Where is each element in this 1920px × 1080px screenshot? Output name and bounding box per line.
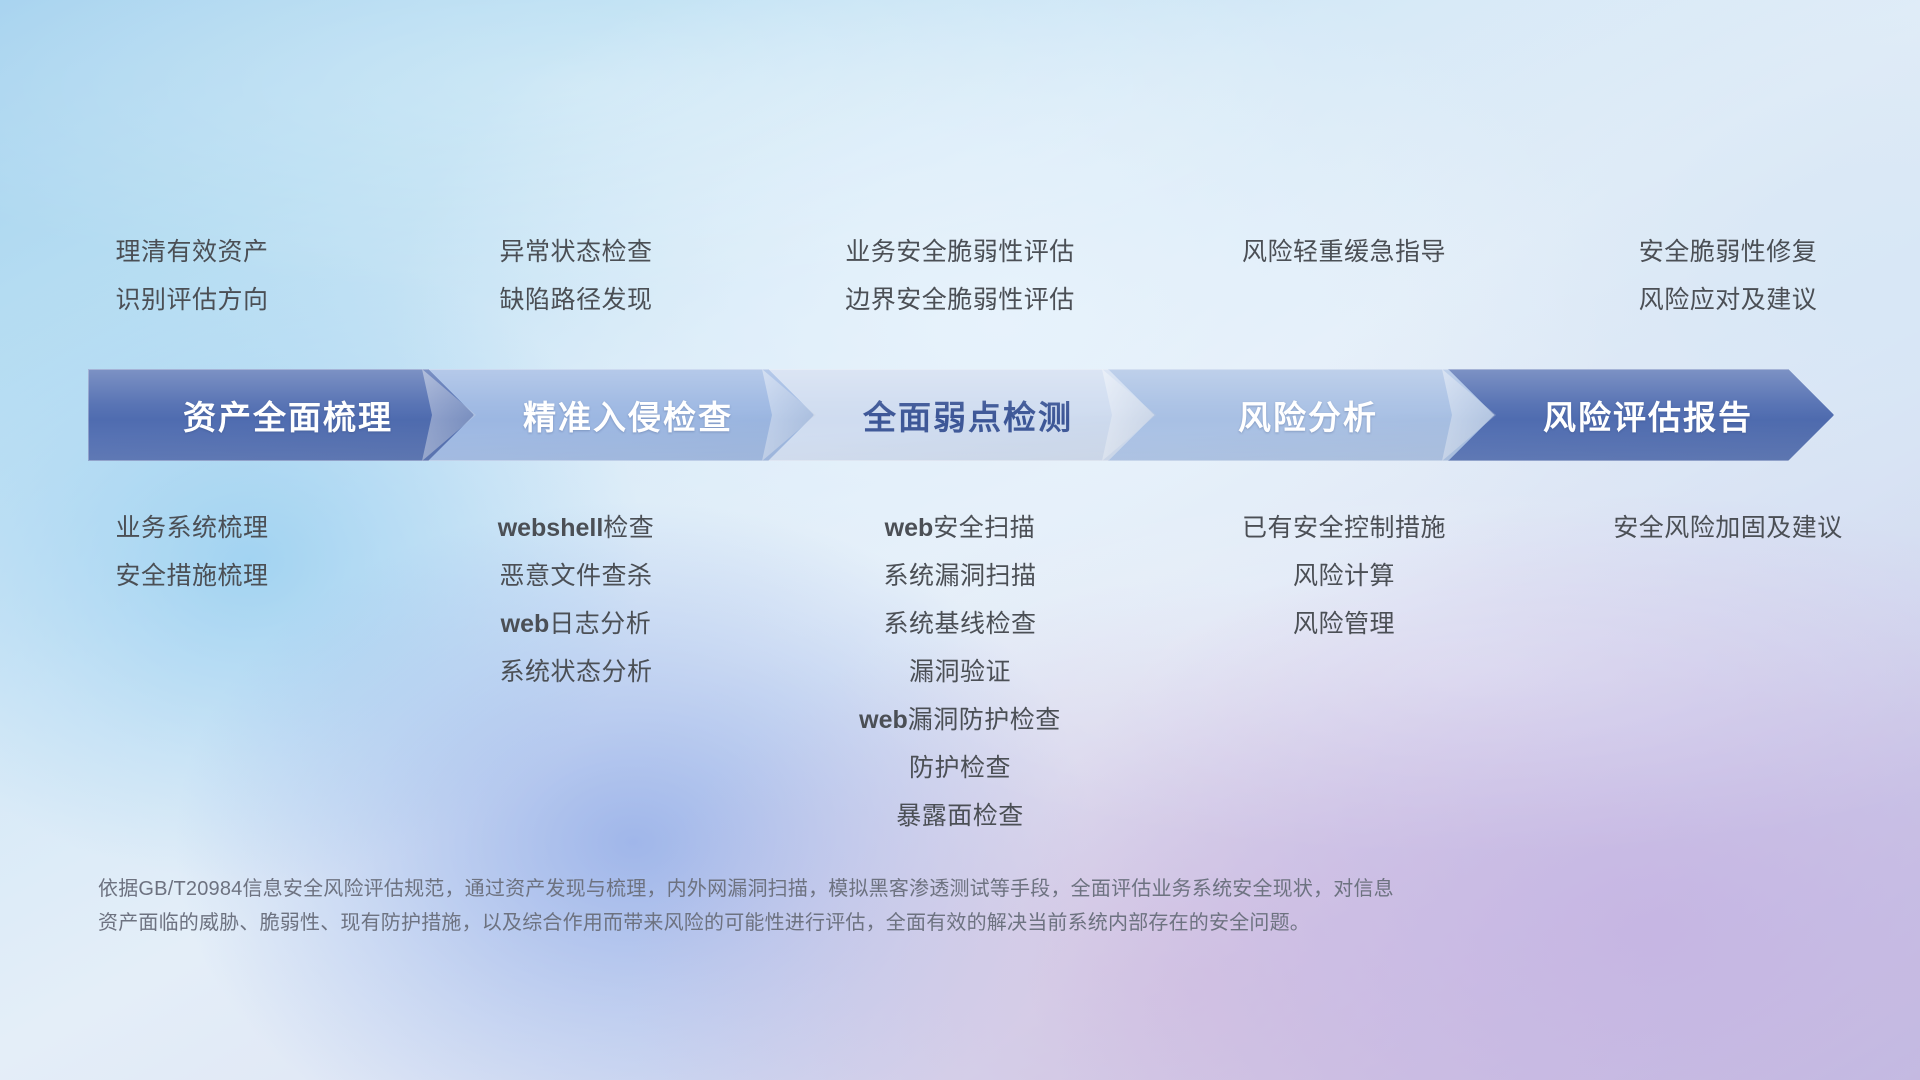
top-note: 风险轻重缓急指导 xyxy=(1162,228,1526,276)
top-note: 理清有效资产 xyxy=(10,228,374,276)
bottom-item-latin: webshell xyxy=(498,514,604,542)
bottom-items-col-2: webshell检查恶意文件查杀web日志分析系统状态分析 xyxy=(384,504,768,696)
footer-description: 依据GB/T20984信息安全风险评估规范，通过资产发现与梳理，内外网漏洞扫描，… xyxy=(98,872,1618,940)
top-note: 异常状态检查 xyxy=(394,228,758,276)
bottom-item: 业务系统梳理 xyxy=(10,504,374,552)
chevron-label: 资产全面梳理 xyxy=(169,391,393,439)
bottom-item-latin: web xyxy=(885,514,934,542)
footer-line-2: 资产面临的威胁、脆弱性、现有防护措施，以及综合作用而带来风险的可能性进行评估，全… xyxy=(98,906,1618,940)
chevron-label: 精准入侵检查 xyxy=(509,391,733,439)
bottom-items-col-4: 已有安全控制措施风险计算风险管理 xyxy=(1152,504,1536,648)
chevron-label: 风险分析 xyxy=(1224,391,1378,439)
chevron-stage-intrusion-check[interactable]: 精准入侵检查 xyxy=(428,369,814,461)
top-note: 边界安全脆弱性评估 xyxy=(778,276,1142,324)
bottom-items-row: 业务系统梳理安全措施梳理 webshell检查恶意文件查杀web日志分析系统状态… xyxy=(0,504,1920,840)
top-note: 安全脆弱性修复 xyxy=(1546,228,1910,276)
top-note: 风险应对及建议 xyxy=(1546,276,1910,324)
bottom-item: 已有安全控制措施 xyxy=(1162,504,1526,552)
top-note: 业务安全脆弱性评估 xyxy=(778,228,1142,276)
bottom-item: 安全风险加固及建议 xyxy=(1546,504,1910,552)
bottom-item-text: 系统漏洞扫描 xyxy=(883,562,1036,590)
bottom-item: 系统状态分析 xyxy=(394,648,758,696)
bottom-item-text: 漏洞验证 xyxy=(909,658,1011,686)
bottom-item: web安全扫描 xyxy=(778,504,1142,552)
top-notes-col-2: 异常状态检查 缺陷路径发现 xyxy=(384,228,768,324)
bottom-items-col-1: 业务系统梳理安全措施梳理 xyxy=(0,504,384,600)
top-notes-col-5: 安全脆弱性修复 风险应对及建议 xyxy=(1536,228,1920,324)
chevron-stage-risk-report[interactable]: 风险评估报告 xyxy=(1448,369,1834,461)
bottom-item: 防护检查 xyxy=(778,744,1142,792)
bottom-item: 安全措施梳理 xyxy=(10,552,374,600)
chevron-label: 全面弱点检测 xyxy=(849,391,1073,439)
chevron-stage-asset-inventory[interactable]: 资产全面梳理 xyxy=(88,369,474,461)
bottom-items-col-3: web安全扫描系统漏洞扫描系统基线检查漏洞验证web漏洞防护检查防护检查暴露面检… xyxy=(768,504,1152,840)
bottom-item: 风险计算 xyxy=(1162,552,1526,600)
bottom-item: web漏洞防护检查 xyxy=(778,696,1142,744)
bottom-item-text: 已有安全控制措施 xyxy=(1242,514,1446,542)
top-notes-col-1: 理清有效资产 识别评估方向 xyxy=(0,228,384,324)
bottom-item-text: 风险管理 xyxy=(1293,610,1395,638)
chevron-stage-weakness-detection[interactable]: 全面弱点检测 xyxy=(768,369,1154,461)
bottom-item-text: 系统状态分析 xyxy=(499,658,652,686)
top-notes-row: 理清有效资产 识别评估方向 异常状态检查 缺陷路径发现 业务安全脆弱性评估 边界… xyxy=(0,228,1920,324)
bottom-item-text: 日志分析 xyxy=(549,610,651,638)
bottom-item-text: 风险计算 xyxy=(1293,562,1395,590)
process-chevron-banner: 资产全面梳理 精准入侵检查 全面弱点检测 风险分析 风险评估报告 xyxy=(88,369,1834,461)
bottom-item-text: 安全风险加固及建议 xyxy=(1613,514,1843,542)
bottom-item-text: 暴露面检查 xyxy=(896,802,1024,830)
bottom-item: 系统基线检查 xyxy=(778,600,1142,648)
footer-line-1: 依据GB/T20984信息安全风险评估规范，通过资产发现与梳理，内外网漏洞扫描，… xyxy=(98,872,1618,906)
bottom-item: 恶意文件查杀 xyxy=(394,552,758,600)
bottom-item-text: 恶意文件查杀 xyxy=(499,562,652,590)
bottom-items-col-5: 安全风险加固及建议 xyxy=(1536,504,1920,552)
top-notes-col-4: 风险轻重缓急指导 xyxy=(1152,228,1536,324)
bottom-item: 漏洞验证 xyxy=(778,648,1142,696)
bottom-item: webshell检查 xyxy=(394,504,758,552)
top-note: 缺陷路径发现 xyxy=(394,276,758,324)
bottom-item-text: 系统基线检查 xyxy=(883,610,1036,638)
bottom-item-latin: web xyxy=(859,706,908,734)
top-note: 识别评估方向 xyxy=(10,276,374,324)
bottom-item-text: 检查 xyxy=(603,514,654,542)
bottom-item-latin: web xyxy=(501,610,550,638)
bottom-item-text: 安全扫描 xyxy=(933,514,1035,542)
bottom-item-text: 安全措施梳理 xyxy=(115,562,268,590)
chevron-stage-risk-analysis[interactable]: 风险分析 xyxy=(1108,369,1494,461)
bottom-item: 系统漏洞扫描 xyxy=(778,552,1142,600)
bottom-item: 暴露面检查 xyxy=(778,792,1142,840)
bottom-item-text: 防护检查 xyxy=(909,754,1011,782)
slide-canvas: 理清有效资产 识别评估方向 异常状态检查 缺陷路径发现 业务安全脆弱性评估 边界… xyxy=(0,0,1920,1080)
top-notes-col-3: 业务安全脆弱性评估 边界安全脆弱性评估 xyxy=(768,228,1152,324)
bottom-item: web日志分析 xyxy=(394,600,758,648)
bottom-item-text: 漏洞防护检查 xyxy=(908,706,1061,734)
bottom-item: 风险管理 xyxy=(1162,600,1526,648)
bottom-item-text: 业务系统梳理 xyxy=(115,514,268,542)
chevron-label: 风险评估报告 xyxy=(1529,391,1753,439)
